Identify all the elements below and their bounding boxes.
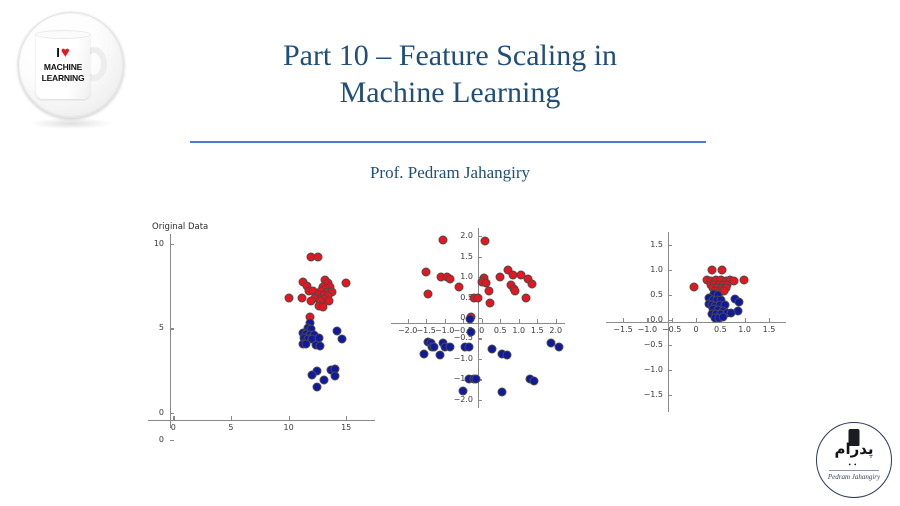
signature-glyph: پدرام [817,442,891,457]
scatter-point-red [313,252,322,261]
chart-panel-normalized: −1.5−1.0−0.500.51.01.5−1.5−1.0−0.50.00.5… [600,218,815,468]
i-love-machine-learning-mug-icon: I♥ MACHINE LEARNING [16,10,124,118]
scatter-point-blue [302,340,311,349]
scatter-point-red [717,266,726,275]
chart-panel-standardized: −2.0−1.5−1.0−0.500.51.01.52.0−2.0−1.5−1.… [385,218,610,468]
scatter-point-blue [530,377,539,386]
scatter-plot-strip: Original Data 05101505100 −2.0−1.5−1.0−0… [0,218,900,468]
scatter-point-red [689,283,698,292]
scatter-points-layer [385,218,573,468]
scatter-point-red [318,303,327,312]
scatter-point-red [474,294,483,303]
signature-underline [829,470,879,471]
scatter-point-blue [498,388,507,397]
scatter-point-red [446,275,455,284]
scatter-point-red [485,298,494,307]
page-title: Part 10 – Feature Scaling in Machine Lea… [190,38,710,111]
title-divider [190,141,706,143]
scatter-point-blue [488,344,497,353]
scatter-point-blue [719,313,728,322]
scatter-points-layer [600,218,794,468]
scatter-point-red [438,236,447,245]
scatter-point-red [708,266,717,275]
scatter-point-blue [436,350,445,359]
pedram-jahangiry-signature-badge-icon: پدرام •• Pedram Jahangiry [816,422,892,498]
heart-icon: ♥ [61,45,70,60]
author-line: Prof. Pedram Jahangiry [190,163,710,183]
scatter-point-red [341,278,350,287]
scatter-point-blue [465,314,474,323]
chart-canvas-original: 05101505100 [130,218,385,468]
slide-canvas: I♥ MACHINE LEARNING Part 10 – Feature Sc… [0,0,900,506]
scatter-point-red [481,237,490,246]
scatter-point-blue [338,335,347,344]
scatter-point-blue [472,374,481,383]
scatter-point-red [455,283,464,292]
mug-text-machine: MACHINE [36,63,90,72]
title-line-2: Machine Learning [190,75,710,112]
signature-name: Pedram Jahangiry [817,473,891,481]
scatter-point-red [285,294,294,303]
chart-canvas-standardized: −2.0−1.5−1.0−0.500.51.01.52.0−2.0−1.5−1.… [385,218,610,468]
scatter-point-blue [555,343,564,352]
scatter-point-blue [466,327,475,336]
scatter-point-red [527,280,536,289]
scatter-points-layer [130,218,383,468]
scatter-point-red [424,290,433,299]
scatter-point-red [496,273,505,282]
scatter-point-red [522,293,531,302]
scatter-point-blue [315,342,324,351]
scatter-point-blue [307,370,316,379]
scatter-point-red [298,294,307,303]
scatter-point-red [511,287,520,296]
chart-canvas-normalized: −1.5−1.0−0.500.51.01.5−1.5−1.0−0.50.00.5… [600,218,815,468]
scatter-point-blue [420,350,429,359]
scatter-point-red [325,296,334,305]
mug-logo-shadow [30,118,112,129]
scatter-point-blue [312,382,321,391]
mug-rim [35,30,91,39]
scatter-point-blue [464,342,473,351]
scatter-point-blue [319,375,328,384]
mug-logo-sphere: I♥ MACHINE LEARNING [18,12,124,118]
chart-panel-original: Original Data 05101505100 [130,218,385,468]
signature-badge-ring: پدرام •• Pedram Jahangiry [816,422,892,498]
scatter-point-red [422,268,431,277]
scatter-point-blue [459,386,468,395]
title-line-1: Part 10 – Feature Scaling in [190,38,710,75]
scatter-point-red [485,287,494,296]
scatter-point-blue [446,342,455,351]
mug-text-i: I [56,46,60,59]
mug-text-block: I♥ MACHINE LEARNING [36,45,90,82]
scatter-point-blue [727,309,736,318]
mug-text-learning: LEARNING [36,74,90,83]
signature-dots: •• [817,461,891,469]
scatter-point-blue [330,371,339,380]
scatter-point-red [740,276,749,285]
scatter-point-blue [502,350,511,359]
